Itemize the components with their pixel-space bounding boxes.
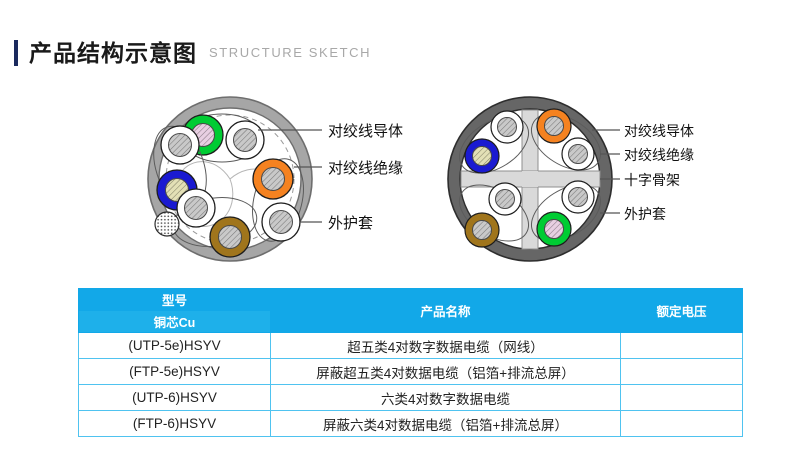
cell-model: (FTP-5e)HSYV (79, 359, 271, 385)
table-body: (UTP-5e)HSYV 超五类4对数字数据电缆（网线） (FTP-5e)HSY… (79, 333, 743, 437)
cell-name: 屏蔽六类4对数据电缆（铝箔+排流总屏） (271, 411, 621, 437)
cell-voltage (621, 333, 743, 359)
cell-model: (UTP-5e)HSYV (79, 333, 271, 359)
cable-cross-section-svg: 对绞线导体 对绞线绝缘 外护套 (0, 82, 790, 277)
table-row: (FTP-6)HSYV 屏蔽六类4对数据电缆（铝箔+排流总屏） (79, 411, 743, 437)
cell-voltage (621, 411, 743, 437)
header-product-name: 产品名称 (271, 289, 621, 333)
table-row: (UTP-6)HSYV 六类4对数字数据电缆 (79, 385, 743, 411)
right-cable-diagram: 对绞线导体 对绞线绝缘 十字骨架 外护套 (448, 97, 694, 261)
cell-name: 六类4对数字数据电缆 (271, 385, 621, 411)
section-header: 产品结构示意图 STRUCTURE SKETCH (0, 36, 371, 70)
drain-wire (155, 212, 179, 236)
cell-name: 超五类4对数字数据电缆（网线） (271, 333, 621, 359)
right-label-insulation: 对绞线绝缘 (624, 147, 694, 164)
header-rated-voltage: 额定电压 (621, 289, 743, 333)
cell-name: 屏蔽超五类4对数据电缆（铝箔+排流总屏） (271, 359, 621, 385)
structure-diagrams: 对绞线导体 对绞线绝缘 外护套 (0, 82, 790, 277)
right-label-jacket: 外护套 (624, 207, 666, 223)
table-head: 型号 产品名称 额定电压 铜芯Cu (79, 289, 743, 333)
cell-model: (UTP-6)HSYV (79, 385, 271, 411)
right-label-separator: 十字骨架 (624, 173, 680, 189)
table-header-row-top: 型号 产品名称 额定电压 (79, 289, 743, 311)
right-label-conductor: 对绞线导体 (624, 123, 694, 140)
header-accent-bar (14, 40, 18, 66)
spec-table: 型号 产品名称 额定电压 铜芯Cu (UTP-5e)HSYV 超五类4对数字数据… (78, 288, 743, 437)
table-row: (FTP-5e)HSYV 屏蔽超五类4对数据电缆（铝箔+排流总屏） (79, 359, 743, 385)
left-label-conductor: 对绞线导体 (328, 122, 403, 140)
page-subtitle: STRUCTURE SKETCH (209, 46, 371, 61)
cell-voltage (621, 359, 743, 385)
cell-voltage (621, 385, 743, 411)
header-model-sub: 铜芯Cu (79, 311, 271, 333)
left-cable-diagram: 对绞线导体 对绞线绝缘 外护套 (144, 97, 403, 261)
page-title: 产品结构示意图 (29, 42, 197, 65)
header-model: 型号 (79, 289, 271, 311)
left-label-insulation: 对绞线绝缘 (328, 159, 403, 177)
spec-table-container: 型号 产品名称 额定电压 铜芯Cu (UTP-5e)HSYV 超五类4对数字数据… (78, 288, 742, 437)
left-label-jacket: 外护套 (328, 214, 373, 232)
cell-model: (FTP-6)HSYV (79, 411, 271, 437)
page-root: 产品结构示意图 STRUCTURE SKETCH (0, 0, 790, 471)
table-row: (UTP-5e)HSYV 超五类4对数字数据电缆（网线） (79, 333, 743, 359)
